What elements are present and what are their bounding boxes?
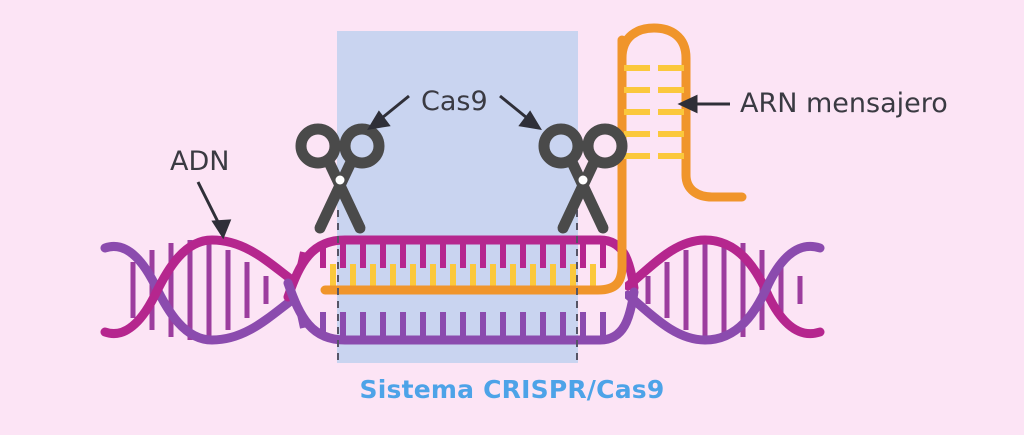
label-adn: ADN xyxy=(170,146,229,177)
arrow-left-icon-arn xyxy=(681,97,730,111)
figure-caption: Sistema CRISPR/Cas9 xyxy=(0,375,1024,404)
bubble-top-rungs xyxy=(323,243,603,268)
bubble-bottom-rungs xyxy=(323,312,603,337)
label-cas9: Cas9 xyxy=(421,86,488,117)
diagram-canvas xyxy=(0,0,1024,435)
crispr-cas9-diagram: ADN Cas9 ARN mensajero Sistema CRISPR/Ca… xyxy=(0,0,1024,435)
rna-hairpin-loop xyxy=(622,28,742,197)
dna-helix-right xyxy=(628,240,820,340)
label-arn-mensajero: ARN mensajero xyxy=(740,88,948,119)
dna-helix-left-strands xyxy=(100,225,295,355)
